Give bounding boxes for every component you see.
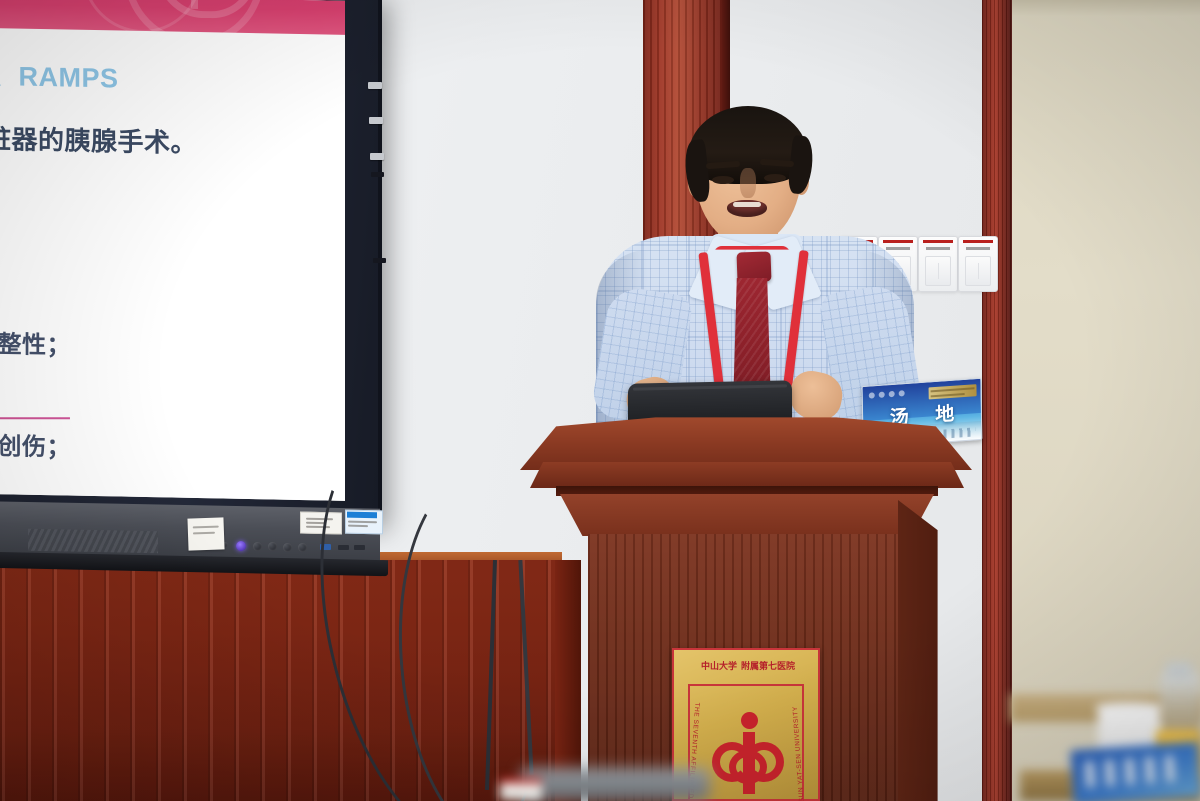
display-handwritten-note: [187, 517, 224, 550]
slide-line-6: 带来的额外手术创伤；: [0, 423, 324, 468]
foreground-label-tag: [500, 778, 542, 800]
display-vol-up-button[interactable]: [298, 543, 307, 552]
emblem-chinese-title: 中山大学附属第七医院: [674, 658, 818, 673]
speaker-mouth: [727, 200, 767, 217]
slide-line-4: 组织及功能的完整性；: [0, 321, 324, 366]
switch-label-strip: [883, 240, 913, 251]
presentation-photo: 除、全胰切除、RAMPS 实质及其临近脏器的胰腺手术。 汤、保胃等 组织及功能的…: [0, 0, 1200, 801]
blue-placard: [1070, 742, 1200, 801]
switch-label-strip: [963, 240, 993, 251]
foreground-object: [520, 768, 710, 801]
slide-line-1: 除、全胰切除、RAMPS: [0, 51, 324, 100]
wall-switch-plate-4[interactable]: [958, 236, 998, 292]
display-menu-button[interactable]: [253, 542, 262, 551]
podium-lip: [530, 462, 964, 488]
switch-label-strip: [923, 240, 953, 251]
display-bracket-tab-1: [368, 82, 382, 89]
necktie-knot: [736, 251, 771, 282]
slide-screen: 除、全胰切除、RAMPS 实质及其临近脏器的胰腺手术。 汤、保胃等 组织及功能的…: [0, 0, 345, 501]
sysu-hospital-monogram-icon: [710, 712, 786, 796]
slide-line-5: 胆道重建；: [0, 372, 324, 417]
slide-line-2: 实质及其临近脏器的胰腺手术。: [0, 116, 324, 163]
podium-midsection: [560, 494, 934, 536]
speaker-eye-right: [764, 174, 786, 182]
emblem-cn-sub: 附属第七医院: [741, 662, 795, 672]
speaker-eye-left: [712, 176, 734, 184]
switch-rocker[interactable]: [925, 256, 951, 286]
switch-rocker[interactable]: [965, 256, 991, 286]
wall-switch-plate-3[interactable]: [918, 236, 958, 292]
display-bracket-tab-3: [370, 153, 384, 160]
display-bracket-tab-4: [371, 172, 384, 177]
display-power-indicator: [236, 541, 246, 551]
slide-body: 除、全胰切除、RAMPS 实质及其临近脏器的胰腺手术。 汤、保胃等 组织及功能的…: [0, 24, 345, 500]
right-wood-trim: [982, 0, 1012, 801]
slide-line-3: 汤、保胃等: [0, 199, 324, 253]
beige-wall-top-shadow: [1008, 0, 1200, 16]
display-vol-down-button[interactable]: [283, 543, 292, 552]
speaker-nose: [740, 168, 756, 198]
display-speaker-grille: [28, 529, 158, 553]
display-bracket-tab-5: [373, 258, 386, 263]
display-bracket-tab-2: [369, 117, 383, 124]
display-source-button[interactable]: [268, 542, 277, 551]
bottle-cap: [1166, 662, 1192, 680]
slide-divider-rule: [0, 417, 70, 419]
emblem-cn-main: 中山大学: [701, 662, 737, 672]
presentation-slide: 除、全胰切除、RAMPS 实质及其临近脏器的胰腺手术。 汤、保胃等 组织及功能的…: [0, 0, 345, 501]
